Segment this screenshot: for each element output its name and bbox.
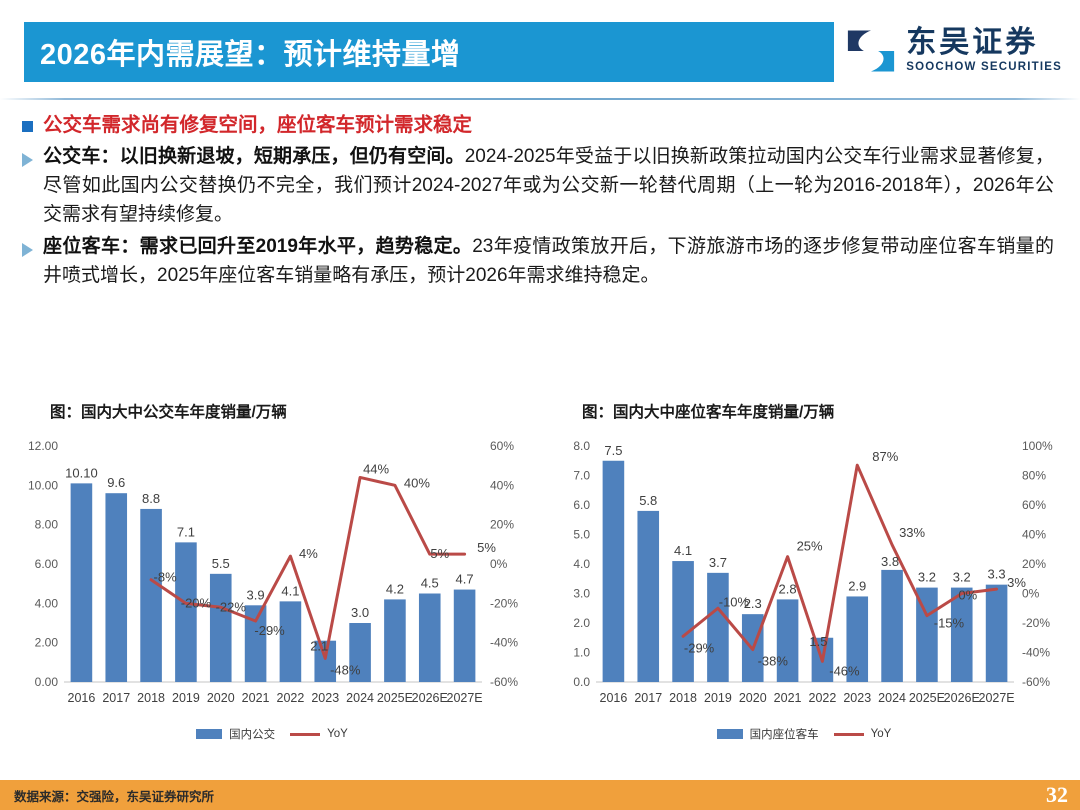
bullet-highlight-text: 公交车需求尚有修复空间，座位客车预计需求稳定 (43, 112, 472, 138)
svg-text:10.00: 10.00 (28, 478, 58, 492)
bar-2020 (210, 574, 232, 682)
bar-2024 (881, 570, 903, 682)
chart-bus-svg: 0.002.004.006.008.0010.0012.00-60%-40%-2… (16, 432, 536, 722)
legend-line-label: YoY (327, 728, 348, 740)
header-divider (0, 98, 1080, 100)
bar-label: 7.5 (604, 443, 622, 458)
yoy-label: 25% (797, 539, 823, 554)
svg-text:0%: 0% (490, 557, 508, 571)
chart-coach: 图：国内大中座位客车年度销量/万辆 0.01.02.03.04.05.06.07… (548, 400, 1068, 775)
x-tick-label: 2027E (447, 691, 483, 705)
svg-text:0.0: 0.0 (573, 675, 590, 689)
yoy-label: 4% (299, 546, 318, 561)
bullet-bus: 公交车：以旧换新退坡，短期承压，但仍有空间。2024-2025年受益于以旧换新政… (0, 143, 1080, 230)
bullet-bus-paragraph: 公交车：以旧换新退坡，短期承压，但仍有空间。2024-2025年受益于以旧换新政… (43, 143, 1054, 230)
svg-text:2.0: 2.0 (573, 616, 590, 630)
bar-label: 3.2 (953, 570, 971, 585)
x-tick-label: 2021 (774, 691, 802, 705)
svg-text:-60%: -60% (490, 675, 518, 689)
yoy-line (683, 465, 997, 661)
x-tick-label: 2025E (377, 691, 413, 705)
yoy-label: 5% (430, 546, 449, 561)
company-logo: 东吴证券 SOOCHOW SECURITIES (844, 27, 1062, 75)
yoy-label: -15% (934, 616, 965, 631)
slide-body: 公交车需求尚有修复空间，座位客车预计需求稳定 公交车：以旧换新退坡，短期承压，但… (0, 104, 1080, 291)
triangle-bullet-icon (22, 243, 33, 257)
chart-coach-title: 图：国内大中座位客车年度销量/万辆 (548, 400, 1068, 422)
legend-bar-swatch (196, 729, 222, 739)
svg-text:80%: 80% (1022, 469, 1046, 483)
bar-label: 4.7 (456, 572, 474, 587)
slide-footer: 数据来源：交强险，东吴证券研究所 32 (0, 780, 1080, 810)
logo-name-en: SOOCHOW SECURITIES (906, 62, 1062, 74)
svg-text:8.00: 8.00 (35, 518, 59, 532)
chart-coach-svg: 0.01.02.03.04.05.06.07.08.0-60%-40%-20%0… (548, 432, 1068, 722)
yoy-label: -20% (181, 595, 212, 610)
yoy-label: -46% (829, 663, 860, 678)
svg-text:6.00: 6.00 (35, 557, 59, 571)
bar-label: 4.1 (281, 583, 299, 598)
bar-label: 4.1 (674, 543, 692, 558)
svg-text:-20%: -20% (1022, 616, 1050, 630)
bar-label: 3.8 (881, 554, 899, 569)
svg-text:1.0: 1.0 (573, 646, 590, 660)
x-tick-label: 2017 (102, 691, 130, 705)
yoy-label: 40% (404, 475, 430, 490)
slide-header: 2026年内需展望：预计维持量增 东吴证券 SOOCHOW SECURITIES (0, 0, 1080, 100)
logo-name-cn: 东吴证券 (906, 28, 1062, 58)
legend-bar-label: 国内公交 (229, 726, 275, 742)
bar-2019 (175, 542, 197, 682)
x-tick-label: 2016 (600, 691, 628, 705)
x-tick-label: 2025E (909, 691, 945, 705)
x-tick-label: 2018 (137, 691, 165, 705)
svg-text:8.0: 8.0 (573, 439, 590, 453)
page-title-bar: 2026年内需展望：预计维持量增 (24, 22, 834, 82)
svg-text:6.0: 6.0 (573, 498, 590, 512)
x-tick-label: 2022 (277, 691, 305, 705)
svg-text:4.0: 4.0 (573, 557, 590, 571)
bar-label: 2.1 (310, 639, 328, 654)
bar-label: 1.5 (809, 634, 827, 649)
chart-bus-plot: 0.002.004.006.008.0010.0012.00-60%-40%-2… (16, 432, 536, 722)
yoy-label: 5% (477, 540, 496, 555)
svg-text:-40%: -40% (490, 636, 518, 650)
x-tick-label: 2022 (809, 691, 837, 705)
bar-label: 3.2 (918, 570, 936, 585)
x-tick-label: 2017 (634, 691, 662, 705)
yoy-label: -38% (758, 654, 789, 669)
svg-text:0.00: 0.00 (35, 675, 59, 689)
bullet-coach: 座位客车：需求已回升至2019年水平，趋势稳定。23年疫情政策放开后，下游旅游市… (0, 233, 1080, 291)
bar-2017 (637, 511, 659, 682)
x-tick-label: 2024 (878, 691, 906, 705)
soochow-logo-icon (844, 27, 898, 75)
svg-text:12.00: 12.00 (28, 439, 58, 453)
svg-text:3.0: 3.0 (573, 587, 590, 601)
x-tick-label: 2019 (704, 691, 732, 705)
logo-wordmark: 东吴证券 SOOCHOW SECURITIES (906, 28, 1062, 74)
bar-label: 10.10 (65, 465, 98, 480)
x-tick-label: 2018 (669, 691, 697, 705)
chart-coach-plot: 0.01.02.03.04.05.06.07.08.0-60%-40%-20%0… (548, 432, 1068, 722)
x-tick-label: 2016 (68, 691, 96, 705)
bullet-highlight: 公交车需求尚有修复空间，座位客车预计需求稳定 (0, 112, 1080, 138)
bar-label: 3.7 (709, 555, 727, 570)
square-bullet-icon (22, 121, 33, 132)
bar-2016 (603, 461, 625, 682)
legend-bar-label: 国内座位客车 (750, 726, 819, 742)
x-tick-label: 2027E (979, 691, 1015, 705)
triangle-bullet-icon (22, 153, 33, 167)
bar-2017 (105, 493, 127, 682)
svg-text:-40%: -40% (1022, 646, 1050, 660)
legend-line-label: YoY (871, 728, 892, 740)
yoy-label: -22% (216, 599, 247, 614)
page-title: 2026年内需展望：预计维持量增 (24, 31, 461, 73)
yoy-label: -10% (719, 594, 750, 609)
bar-2021 (777, 599, 799, 682)
yoy-label: 33% (899, 525, 925, 540)
bar-label: 7.1 (177, 524, 195, 539)
bar-2026E (419, 594, 441, 683)
svg-text:40%: 40% (490, 478, 514, 492)
x-tick-label: 2024 (346, 691, 374, 705)
bar-2022 (280, 601, 302, 682)
bullet-coach-lead: 座位客车：需求已回升至2019年水平，趋势稳定。 (43, 236, 472, 257)
x-tick-label: 2023 (311, 691, 339, 705)
svg-text:2.00: 2.00 (35, 636, 59, 650)
bar-label: 3.0 (351, 605, 369, 620)
bar-label: 3.3 (988, 567, 1006, 582)
footer-source: 数据来源：交强险，东吴证券研究所 (14, 786, 214, 805)
yoy-label: -29% (684, 640, 715, 655)
legend-bar-swatch (717, 729, 743, 739)
x-tick-label: 2020 (207, 691, 235, 705)
bullet-bus-lead: 公交车：以旧换新退坡，短期承压，但仍有空间。 (43, 146, 465, 167)
bar-2027E (454, 590, 476, 682)
yoy-label: -8% (154, 570, 178, 585)
x-tick-label: 2021 (242, 691, 270, 705)
bullet-coach-paragraph: 座位客车：需求已回升至2019年水平，趋势稳定。23年疫情政策放开后，下游旅游市… (43, 233, 1054, 291)
x-tick-label: 2020 (739, 691, 767, 705)
chart-coach-legend: 国内座位客车 YoY (548, 726, 1068, 742)
bar-label: 4.5 (421, 576, 439, 591)
bar-label: 5.8 (639, 493, 657, 508)
svg-text:100%: 100% (1022, 439, 1053, 453)
svg-text:-60%: -60% (1022, 675, 1050, 689)
legend-line-swatch (834, 733, 864, 736)
bar-label: 8.8 (142, 491, 160, 506)
chart-bus-title: 图：国内大中公交车年度销量/万辆 (16, 400, 536, 422)
yoy-label: -48% (330, 662, 361, 677)
bar-label: 5.5 (212, 556, 230, 571)
bar-label: 2.8 (779, 581, 797, 596)
svg-text:5.0: 5.0 (573, 528, 590, 542)
bar-label: 9.6 (107, 475, 125, 490)
bar-label: 4.2 (386, 581, 404, 596)
footer-page-number: 32 (1046, 782, 1068, 808)
yoy-label: 0% (958, 588, 977, 603)
legend-line-swatch (290, 733, 320, 736)
bar-2018 (140, 509, 162, 682)
svg-text:4.00: 4.00 (35, 596, 59, 610)
x-tick-label: 2026E (412, 691, 448, 705)
svg-text:20%: 20% (490, 518, 514, 532)
yoy-label: -29% (254, 623, 285, 638)
x-tick-label: 2023 (843, 691, 871, 705)
chart-bus: 图：国内大中公交车年度销量/万辆 0.002.004.006.008.0010.… (16, 400, 536, 775)
yoy-label: 87% (872, 449, 898, 464)
chart-bus-legend: 国内公交 YoY (16, 726, 536, 742)
svg-text:20%: 20% (1022, 557, 1046, 571)
x-tick-label: 2019 (172, 691, 200, 705)
bar-label: 3.9 (247, 587, 265, 602)
svg-text:60%: 60% (1022, 498, 1046, 512)
bar-label: 2.9 (848, 578, 866, 593)
svg-text:40%: 40% (1022, 528, 1046, 542)
bar-2025E (384, 599, 406, 682)
svg-text:-20%: -20% (490, 596, 518, 610)
x-tick-label: 2026E (944, 691, 980, 705)
bar-2019 (707, 573, 729, 682)
svg-text:60%: 60% (490, 439, 514, 453)
bar-2018 (672, 561, 694, 682)
charts-area: 图：国内大中公交车年度销量/万辆 0.002.004.006.008.0010.… (0, 400, 1080, 775)
bar-2027E (986, 585, 1008, 682)
bar-2016 (71, 483, 93, 682)
yoy-line (151, 477, 465, 658)
yoy-label: 3% (1007, 575, 1026, 590)
yoy-label: 44% (363, 461, 389, 476)
svg-text:7.0: 7.0 (573, 469, 590, 483)
